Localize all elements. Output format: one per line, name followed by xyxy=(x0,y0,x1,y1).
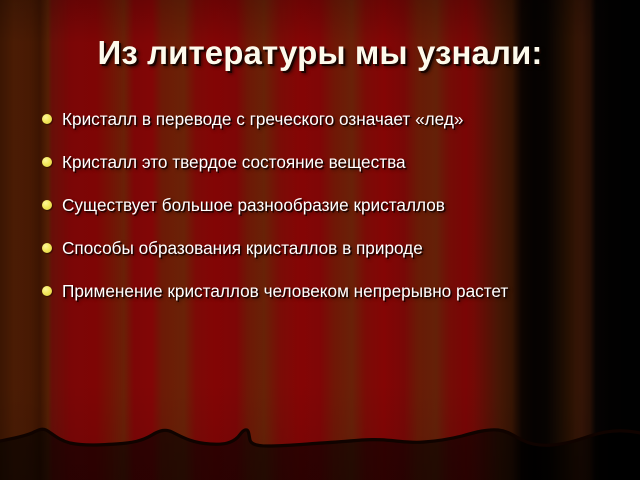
bullet-item-label: Способы образования кристаллов в природе xyxy=(62,237,602,259)
bullet-item: Кристалл в переводе с греческого означае… xyxy=(36,108,602,130)
bullet-item: Кристалл это твердое состояние вещества xyxy=(36,151,602,173)
bullet-dot-icon xyxy=(42,200,52,210)
bullet-item-label: Существует большое разнообразие кристалл… xyxy=(62,194,602,216)
bullet-dot-icon xyxy=(42,243,52,253)
bullet-item: Существует большое разнообразие кристалл… xyxy=(36,194,602,216)
bullet-dot-icon xyxy=(42,157,52,167)
bullet-dot-icon xyxy=(42,286,52,296)
slide-title: Из литературы мы узнали: xyxy=(0,33,640,73)
bullet-item: Способы образования кристаллов в природе xyxy=(36,237,602,259)
bullet-item-label: Кристалл это твердое состояние вещества xyxy=(62,151,602,173)
bullet-item: Применение кристаллов человеком непрерыв… xyxy=(36,280,602,302)
slide-content: Из литературы мы узнали: Кристалл в пере… xyxy=(0,0,640,480)
bullet-dot-icon xyxy=(42,114,52,124)
bullet-item-label: Применение кристаллов человеком непрерыв… xyxy=(62,280,602,302)
bullet-item-label: Кристалл в переводе с греческого означае… xyxy=(62,108,602,130)
bullet-list: Кристалл в переводе с греческого означае… xyxy=(36,108,602,302)
presentation-slide: Из литературы мы узнали: Кристалл в пере… xyxy=(0,0,640,480)
